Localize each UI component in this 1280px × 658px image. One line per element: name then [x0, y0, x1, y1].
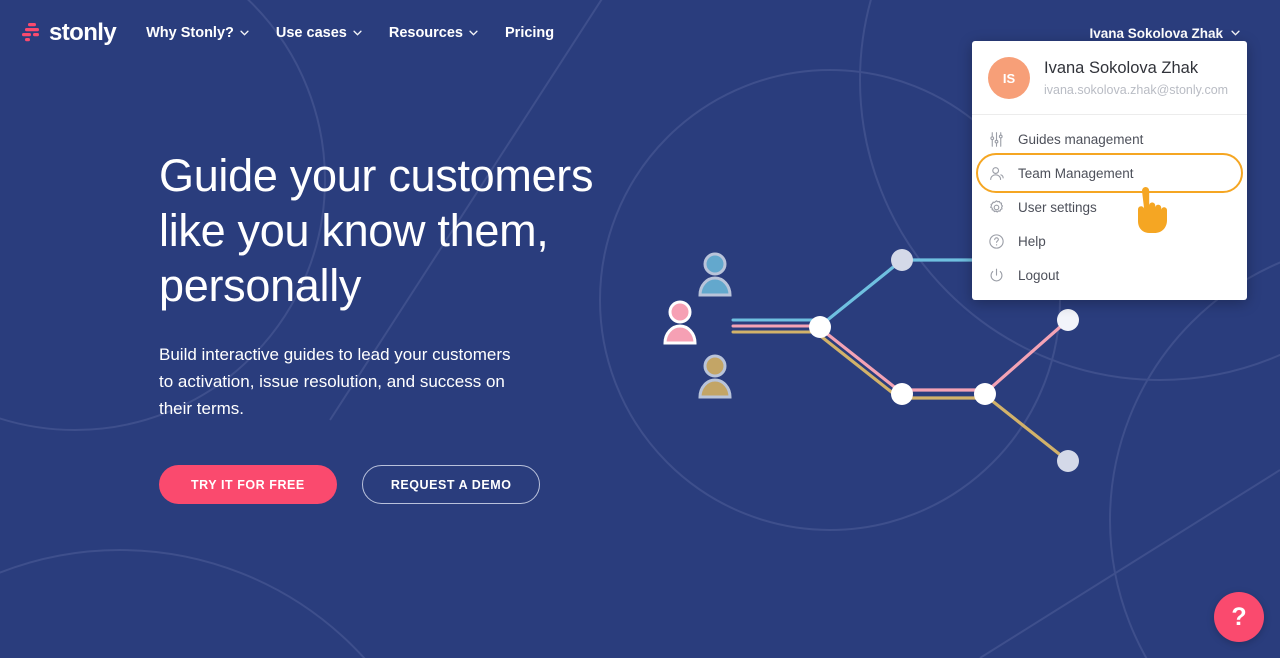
- person-avatar-tan: [700, 356, 730, 397]
- node-lower-right: [1057, 450, 1079, 472]
- page-title: Guide your customers like you know them,…: [159, 148, 629, 313]
- request-a-demo-button[interactable]: REQUEST A DEMO: [362, 465, 541, 504]
- gear-icon: [988, 199, 1005, 216]
- nav-item-use-cases[interactable]: Use cases: [276, 25, 362, 41]
- menu-item-label: Logout: [1018, 268, 1059, 283]
- page-root: stonly Why Stonly? Use cases Resources P…: [0, 0, 1280, 658]
- node-hub: [809, 316, 831, 338]
- dropdown-header: IS Ivana Sokolova Zhak ivana.sokolova.zh…: [972, 41, 1247, 115]
- user-dropdown-menu: IS Ivana Sokolova Zhak ivana.sokolova.zh…: [972, 41, 1247, 300]
- nav-item-resources[interactable]: Resources: [389, 25, 478, 41]
- menu-item-user-settings[interactable]: User settings: [972, 190, 1247, 224]
- stonly-stacked-bars-icon: [22, 22, 42, 44]
- node-mid-left: [891, 383, 913, 405]
- dropdown-user-info: Ivana Sokolova Zhak ivana.sokolova.zhak@…: [1044, 58, 1228, 99]
- node-mid-right: [974, 383, 996, 405]
- sliders-icon: [988, 131, 1005, 148]
- logo-text: stonly: [49, 19, 116, 47]
- menu-item-label: Guides management: [1018, 132, 1143, 147]
- dropdown-item-list: Guides management Team Management User s…: [972, 115, 1247, 292]
- user-menu-label: Ivana Sokolova Zhak: [1089, 26, 1223, 41]
- menu-item-label: User settings: [1018, 200, 1097, 215]
- nav-item-label: Resources: [389, 25, 463, 41]
- hero-heading-line-2: like you know them,: [159, 205, 548, 256]
- nav-item-label: Why Stonly?: [146, 25, 234, 41]
- nav-links: Why Stonly? Use cases Resources Pricing: [146, 25, 554, 41]
- node-top: [891, 249, 913, 271]
- person-icon: [988, 165, 1005, 182]
- menu-item-team-management[interactable]: Team Management: [972, 156, 1247, 190]
- help-fab-button[interactable]: ?: [1214, 592, 1264, 642]
- menu-item-help[interactable]: Help: [972, 224, 1247, 258]
- power-icon: [988, 267, 1005, 284]
- hero-heading-line-1: Guide your customers: [159, 150, 593, 201]
- hero-heading-line-3: personally: [159, 260, 361, 311]
- user-menu-trigger[interactable]: Ivana Sokolova Zhak: [1089, 26, 1258, 41]
- dropdown-user-email: ivana.sokolova.zhak@stonly.com: [1044, 81, 1228, 99]
- nav-item-label: Pricing: [505, 25, 554, 41]
- hand-cursor-icon: [1126, 182, 1174, 242]
- person-avatar-pink: [665, 302, 695, 343]
- person-avatar-blue: [700, 254, 730, 295]
- menu-item-guides-management[interactable]: Guides management: [972, 122, 1247, 156]
- menu-item-logout[interactable]: Logout: [972, 258, 1247, 292]
- chevron-down-icon: [1231, 30, 1240, 36]
- hero-subtitle: Build interactive guides to lead your cu…: [159, 341, 529, 422]
- menu-item-label: Help: [1018, 234, 1046, 249]
- avatar: IS: [988, 57, 1030, 99]
- question-mark-icon: ?: [1231, 603, 1246, 632]
- try-it-for-free-button[interactable]: TRY IT FOR FREE: [159, 465, 337, 504]
- nav-item-label: Use cases: [276, 25, 347, 41]
- question-circle-icon: [988, 233, 1005, 250]
- chevron-down-icon: [240, 30, 249, 36]
- hero-section: Guide your customers like you know them,…: [159, 148, 629, 504]
- node-upper-right: [1057, 309, 1079, 331]
- chevron-down-icon: [353, 30, 362, 36]
- dropdown-user-name: Ivana Sokolova Zhak: [1044, 58, 1228, 79]
- nav-item-why-stonly[interactable]: Why Stonly?: [146, 25, 249, 41]
- nav-item-pricing[interactable]: Pricing: [505, 25, 554, 41]
- menu-item-label: Team Management: [1018, 166, 1134, 181]
- logo[interactable]: stonly: [22, 19, 116, 47]
- cta-row: TRY IT FOR FREE REQUEST A DEMO: [159, 465, 629, 504]
- chevron-down-icon: [469, 30, 478, 36]
